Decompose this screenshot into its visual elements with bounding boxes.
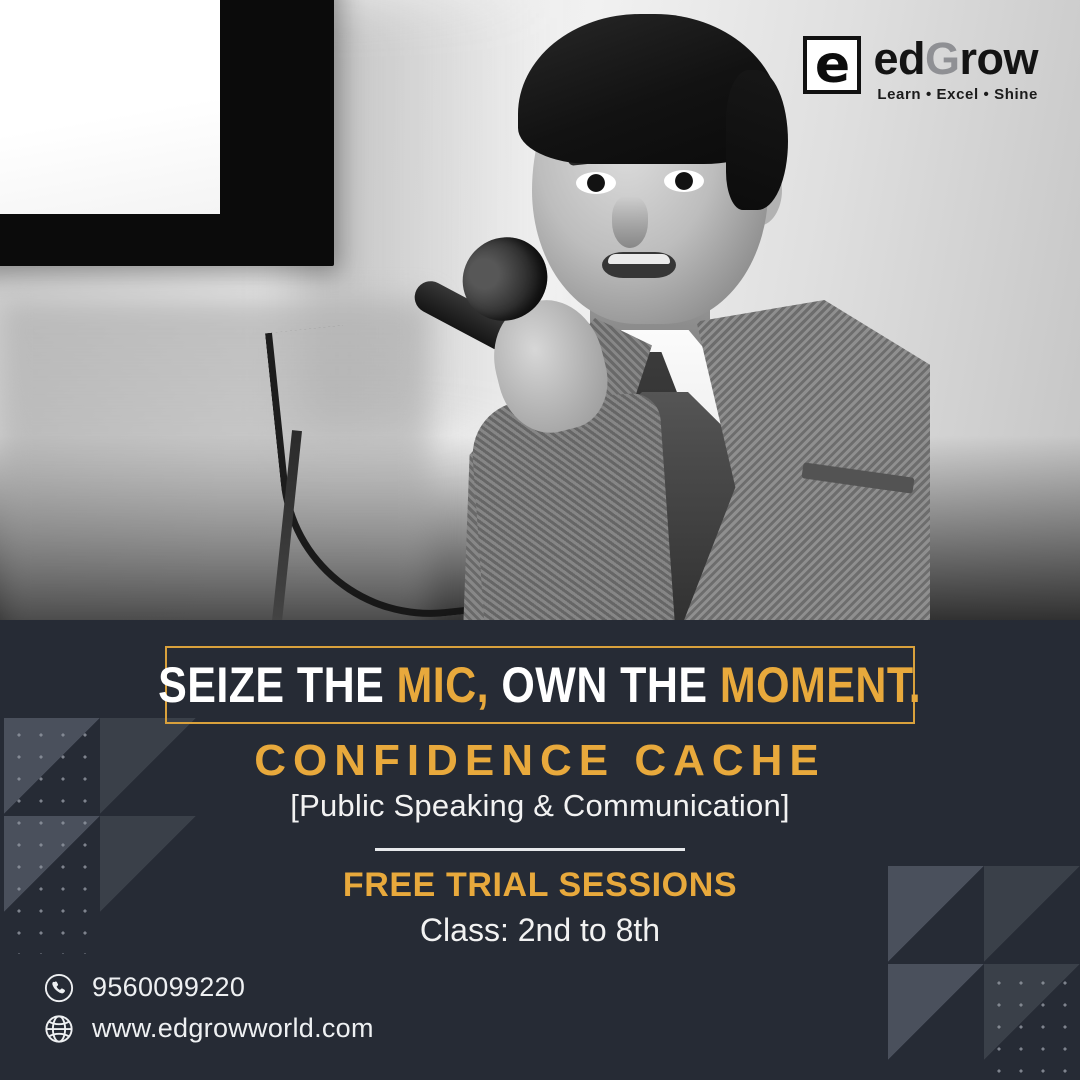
contact-web-row[interactable]: www.edgrowworld.com (44, 1013, 374, 1044)
logo-letter: e (815, 44, 850, 87)
logo-tagline: Learn • Excel • Shine (873, 86, 1038, 103)
section-divider (375, 848, 685, 851)
hair (518, 14, 782, 164)
logo-name-part1: ed (873, 33, 925, 84)
eye-right (664, 170, 704, 192)
globe-icon (44, 1014, 74, 1044)
headline-text: SEIZE THE MIC, OWN THE MOMENT. (158, 656, 921, 714)
headline-box: SEIZE THE MIC, OWN THE MOMENT. (165, 646, 915, 724)
logo-wordmark: edGrow Learn • Excel • Shine (873, 36, 1038, 103)
mouth (602, 252, 676, 278)
website-url: www.edgrowworld.com (92, 1013, 374, 1044)
logo-e-icon: e (803, 36, 861, 94)
phone-circle-icon (44, 973, 74, 1003)
whiteboard-screen (0, 0, 220, 214)
logo-name-part3: row (959, 33, 1038, 84)
program-title: CONFIDENCE CACHE (0, 736, 1080, 786)
logo-name: edGrow (873, 36, 1038, 81)
headline-part1: SEIZE THE (158, 657, 396, 713)
decor-triangle (888, 964, 984, 1060)
headline-gold2: MOMENT. (720, 657, 921, 713)
offer-label: FREE TRIAL SESSIONS (0, 866, 1080, 905)
program-caption: [Public Speaking & Communication] (0, 788, 1080, 824)
contact-block: 9560099220 www.edgrowworld.com (44, 972, 374, 1054)
class-range: Class: 2nd to 8th (0, 912, 1080, 949)
eye-left (576, 172, 616, 194)
decor-dots (988, 972, 1080, 1080)
brand-logo[interactable]: e edGrow Learn • Excel • Shine (803, 36, 1038, 103)
headline-gold1: MIC, (397, 657, 489, 713)
logo-name-part2: G (925, 33, 960, 84)
nose (612, 196, 648, 248)
poster-canvas: e edGrow Learn • Excel • Shine SEIZE THE… (0, 0, 1080, 1080)
contact-phone-row[interactable]: 9560099220 (44, 972, 374, 1003)
headline-part2: OWN THE (489, 657, 720, 713)
phone-number: 9560099220 (92, 972, 245, 1003)
